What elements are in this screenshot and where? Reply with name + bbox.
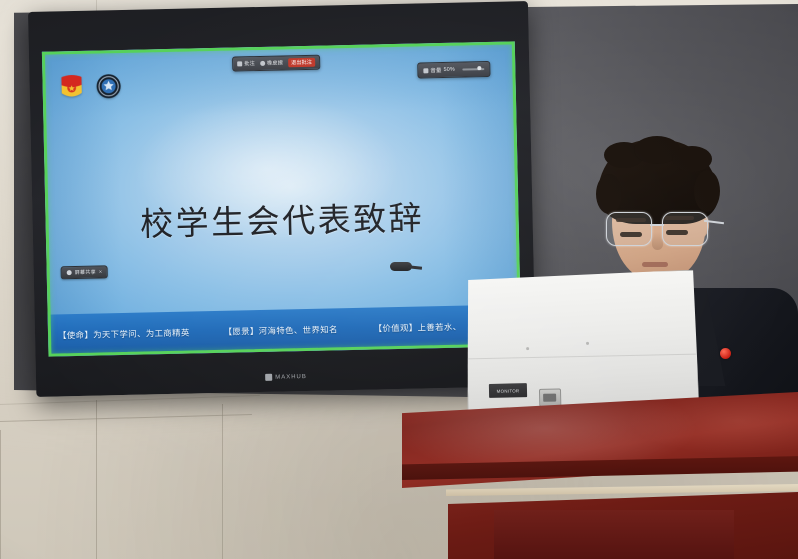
hair-tuft xyxy=(694,170,720,212)
screen-share-label: 屏幕共享 xyxy=(75,269,96,276)
eraser-icon xyxy=(260,61,265,66)
volume-slider[interactable] xyxy=(462,68,484,70)
wooden-lectern xyxy=(402,392,798,559)
volume-icon xyxy=(423,68,428,73)
brand-name: MAXHUB xyxy=(275,374,307,381)
mouth xyxy=(642,262,668,267)
hair-tuft xyxy=(672,146,712,172)
wall-grout-line xyxy=(0,430,1,559)
status-dot-icon xyxy=(67,270,72,275)
lens-right xyxy=(662,212,708,246)
wall-grout-line xyxy=(96,400,97,559)
monitor-screw xyxy=(526,347,529,350)
gooseneck-microphone xyxy=(390,262,422,272)
volume-toolbar[interactable]: 音量 50% xyxy=(417,61,490,79)
display-brand: MAXHUB xyxy=(265,373,307,381)
presentation-photo-scene: 批注 橡皮擦 退出批注 音量 50% 屏幕共享 xyxy=(0,0,798,559)
volume-value: 50% xyxy=(443,67,455,73)
screen-share-widget[interactable]: 屏幕共享 × xyxy=(61,265,109,279)
close-icon[interactable]: × xyxy=(99,269,102,275)
display-screen[interactable]: 批注 橡皮擦 退出批注 音量 50% 屏幕共享 xyxy=(42,41,522,356)
wall-grout-line xyxy=(222,404,223,559)
toolbar-pen-tool[interactable]: 批注 xyxy=(237,60,255,67)
banner-values-text: 【价值观】上善若水、 xyxy=(374,321,462,335)
interactive-display[interactable]: 批注 橡皮擦 退出批注 音量 50% 屏幕共享 xyxy=(28,1,536,397)
lectern-column xyxy=(494,510,734,559)
eyeglasses xyxy=(604,212,712,246)
slide-emblems xyxy=(58,72,122,101)
communist-youth-league-emblem xyxy=(58,73,85,102)
volume-control[interactable]: 音量 50% xyxy=(423,66,455,75)
pen-icon xyxy=(237,61,242,66)
annotation-toolbar[interactable]: 批注 橡皮擦 退出批注 xyxy=(232,55,320,72)
toolbar-eraser-label: 橡皮擦 xyxy=(267,59,283,66)
lapel-pin xyxy=(720,348,731,359)
exit-annotation-button[interactable]: 退出批注 xyxy=(288,58,315,68)
banner-mission-text: 【使命】为天下学问、为工商精英 xyxy=(58,327,190,342)
glasses-bridge xyxy=(650,224,664,226)
school-badge-emblem xyxy=(95,72,122,101)
monitor-screw xyxy=(586,342,589,345)
volume-label: 音量 xyxy=(430,66,441,74)
toolbar-eraser-tool[interactable]: 橡皮擦 xyxy=(260,59,283,67)
hair-tuft xyxy=(596,174,622,214)
lens-left xyxy=(606,212,652,246)
toolbar-pen-label: 批注 xyxy=(244,60,255,67)
banner-vision-text: 【愿景】河海特色、世界知名 xyxy=(224,323,338,337)
brand-logo-icon xyxy=(265,374,272,381)
